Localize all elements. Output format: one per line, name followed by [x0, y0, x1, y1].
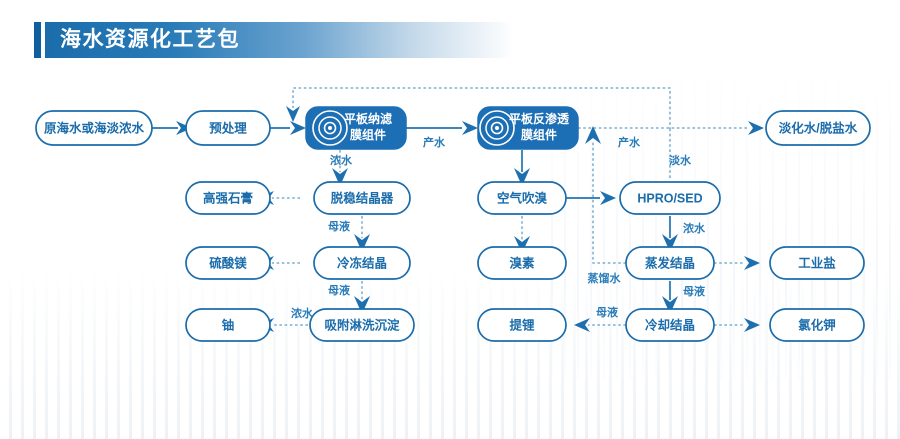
edge-ro-to-airbromine: [514, 150, 530, 186]
node-potassium-chloride[interactable]: 氯化钾: [770, 309, 864, 341]
node-label: 冷冻结晶: [337, 255, 387, 270]
node-raw-water[interactable]: 原海水或海淡浓水: [36, 111, 152, 145]
node-label: 硫酸镁: [209, 255, 247, 270]
node-label-line1: 平板纳滤: [344, 111, 392, 126]
edge-label-hpro-freshwater: 淡水: [669, 153, 692, 167]
node-label: 蒸发结晶: [645, 255, 695, 270]
node-label: 空气吹溴: [497, 190, 548, 205]
edge-label-nf-ro: 产水: [423, 135, 446, 149]
node-label: 铀: [222, 317, 235, 332]
node-hpro-sed[interactable]: HPRO/SED: [620, 182, 720, 214]
edge-nf-to-ro: [406, 121, 478, 135]
edge-ro-to-desal: [578, 121, 764, 135]
node-label: 预处理: [209, 120, 247, 135]
edge-label-evap-distilled: 蒸馏水: [588, 271, 622, 285]
node-label-line2: 膜组件: [350, 127, 386, 142]
node-lithium-extraction[interactable]: 提锂: [478, 309, 566, 341]
node-label: 脱稳结晶器: [331, 190, 394, 205]
node-label: 提锂: [509, 317, 535, 332]
edge-label-layer: 产水 产水 浓水 母液 母液 浓水 淡水 浓水 蒸馏水 母液 母液: [291, 135, 706, 320]
node-ro-membrane-module[interactable]: 平板反渗透 膜组件: [478, 107, 578, 149]
edge-label-destab-freeze: 母液: [328, 219, 351, 233]
node-label: 原海水或海淡浓水: [44, 120, 145, 135]
node-adsorption-elution-precipitation[interactable]: 吸附淋洗沉淀: [310, 309, 414, 341]
node-label: 溴素: [508, 255, 535, 270]
node-label: 淡化水/脱盐水: [779, 120, 858, 135]
node-cooling-crystallization[interactable]: 冷却结晶: [626, 309, 714, 341]
node-air-bromine-stripping[interactable]: 空气吹溴: [478, 182, 566, 214]
node-label: HPRO/SED: [637, 191, 702, 205]
node-label-line1: 平板反渗透: [509, 111, 570, 126]
edge-label-ro-desal: 产水: [618, 135, 641, 149]
node-magnesium-sulfate[interactable]: 硫酸镁: [186, 247, 270, 279]
diagram-canvas: 海水资源化工艺包: [0, 0, 900, 439]
node-high-strength-gypsum[interactable]: 高强石膏: [186, 182, 270, 214]
node-label: 吸附淋洗沉淀: [324, 317, 400, 332]
node-desalinated-water[interactable]: 淡化水/脱盐水: [766, 111, 870, 145]
edge-label-hpro-evap: 浓水: [683, 221, 706, 235]
node-uranium[interactable]: 铀: [186, 309, 270, 341]
node-label: 冷却结晶: [645, 317, 695, 332]
edge-label-adsorb-uranium: 浓水: [291, 306, 314, 320]
node-pretreatment[interactable]: 预处理: [186, 111, 270, 145]
node-evaporative-crystallization[interactable]: 蒸发结晶: [626, 247, 714, 279]
edge-pretreatment-to-nf: [270, 121, 306, 135]
flowchart-svg: 产水 产水 浓水 母液 母液 浓水 淡水 浓水 蒸馏水 母液 母液 原海水或海淡…: [0, 0, 900, 439]
node-destabilization-crystallizer[interactable]: 脱稳结晶器: [314, 182, 410, 214]
node-industrial-salt[interactable]: 工业盐: [770, 247, 864, 279]
edge-cool-to-lithium: [574, 318, 626, 332]
edge-airbromine-to-hpro: [566, 191, 616, 205]
node-freeze-crystallization[interactable]: 冷冻结晶: [314, 247, 410, 279]
node-label: 高强石膏: [203, 190, 253, 205]
node-nf-membrane-module[interactable]: 平板纳滤 膜组件: [306, 107, 406, 149]
edge-label-nf-destab: 浓水: [330, 153, 353, 167]
edge-evap-to-industrialsalt: [714, 256, 760, 270]
node-bromine[interactable]: 溴素: [478, 247, 566, 279]
node-label-line2: 膜组件: [521, 127, 557, 142]
edge-cool-to-kcl: [714, 318, 760, 332]
membrane-target-icon: [313, 111, 347, 145]
node-label: 氯化钾: [798, 317, 836, 332]
edge-label-cool-lithium: 母液: [596, 305, 619, 319]
edge-label-evap-cool: 母液: [683, 284, 706, 298]
node-label: 工业盐: [798, 255, 836, 270]
edge-label-freeze-adsorb: 母液: [328, 283, 351, 297]
